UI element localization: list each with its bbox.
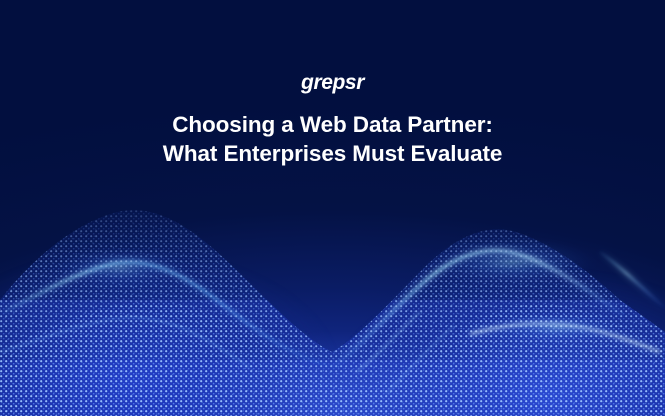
banner-hero: grepsr Choosing a Web Data Partner: What… — [0, 0, 665, 416]
page-title: Choosing a Web Data Partner: What Enterp… — [0, 110, 665, 168]
page-title-line-2: What Enterprises Must Evaluate — [0, 139, 665, 168]
page-title-line-1: Choosing a Web Data Partner: — [172, 112, 493, 137]
banner-content: grepsr Choosing a Web Data Partner: What… — [0, 0, 665, 416]
grepsr-logo[interactable]: grepsr — [0, 72, 665, 93]
